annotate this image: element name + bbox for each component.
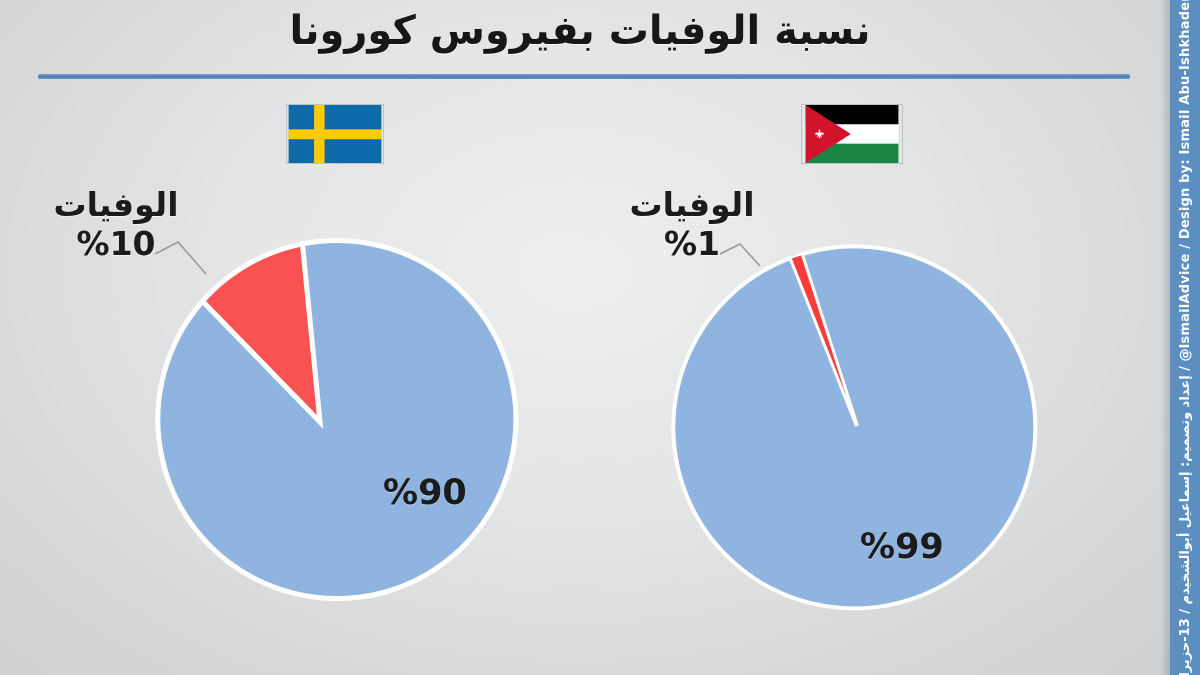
credit-bar: إعداد وتصميم: إسماعيل أبوالشخيدم / 13-حز…: [1170, 0, 1200, 675]
title-divider: [38, 74, 1130, 79]
leader-line-sweden: [150, 232, 240, 292]
flag-jordan-svg: [802, 105, 902, 163]
callout-sweden-deaths-label: الوفيات: [16, 188, 216, 223]
credit-text: إعداد وتصميم: إسماعيل أبوالشخيدم / 13-حز…: [1178, 0, 1193, 675]
flag-sweden-icon: [287, 105, 383, 163]
callout-jordan-deaths-label: الوفيات: [592, 188, 792, 223]
pie-sweden-survivors-value: %90: [383, 473, 467, 513]
pie-jordan-survivors-value: %99: [860, 527, 944, 567]
pie-jordan-slice-survivors: [673, 246, 1035, 608]
pie-jordan-svg: [675, 244, 1039, 608]
pie-chart-jordan: [675, 244, 1039, 608]
leader-line-jordan: [716, 236, 796, 286]
page-title: نسبة الوفيات بفيروس كورونا: [0, 8, 1160, 54]
credit-bar-shadow: [1160, 0, 1170, 675]
infographic-canvas: نسبة الوفيات بفيروس كورونا: [0, 0, 1200, 675]
flag-jordan-icon: [802, 105, 902, 163]
flag-sweden-svg: [287, 105, 383, 163]
